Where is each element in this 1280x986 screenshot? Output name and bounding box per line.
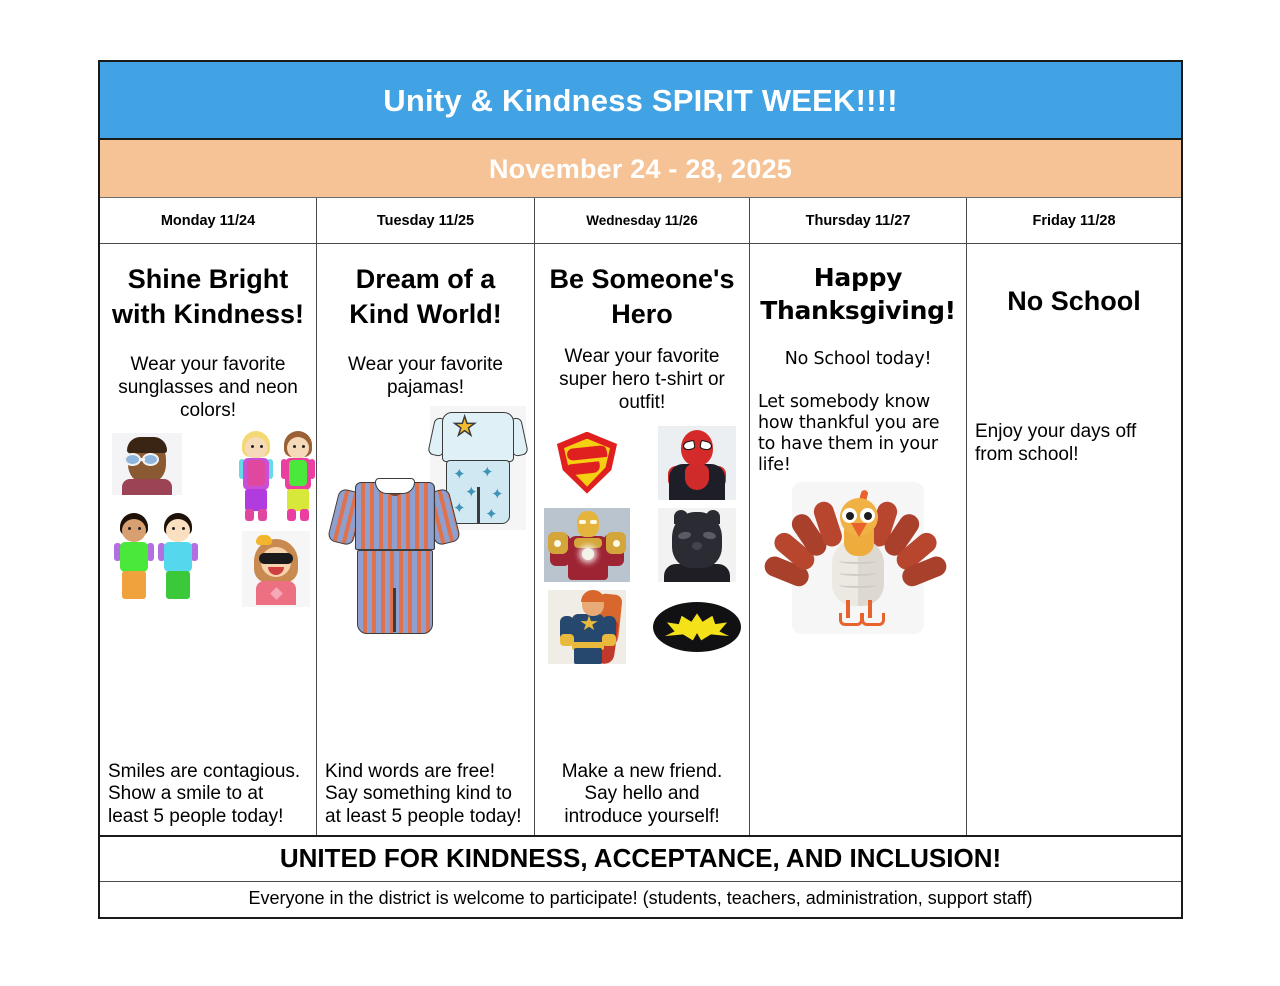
spiderman-photo: [649, 426, 745, 500]
day-cell-tuesday: Dream of a Kind World! Wear your favorit…: [317, 244, 535, 835]
wednesday-subtitle: Wear your favorite super hero t-shirt or…: [543, 346, 741, 414]
thursday-artwork: [758, 482, 958, 634]
captain-marvel-photo: [539, 590, 635, 664]
superman-logo-icon: [539, 426, 635, 500]
day-cell-friday: No School Enjoy your days off from schoo…: [967, 244, 1181, 835]
day-cell-monday: Shine Bright with Kindness! Wear your fa…: [100, 244, 317, 835]
poster-participation-note: Everyone in the district is welcome to p…: [100, 881, 1181, 917]
two-girls-neon-clothes-clipart: [234, 429, 322, 523]
thursday-title: Happy Thanksgiving!: [758, 262, 958, 327]
black-panther-photo: [649, 508, 745, 582]
thursday-subtitle: No School today!: [758, 349, 958, 370]
boy-with-sunglasses-clipart: [112, 433, 182, 495]
poster-date-range: November 24 - 28, 2025: [100, 140, 1181, 198]
monday-footer-text: Smiles are contagious. Show a smile to a…: [108, 761, 308, 829]
monday-subtitle: Wear your favorite sunglasses and neon c…: [108, 354, 308, 422]
tuesday-subtitle: Wear your favorite pajamas!: [325, 354, 526, 400]
monday-artwork: [108, 433, 308, 613]
day-header-monday: Monday 11/24: [100, 198, 317, 243]
iron-man-photo: [539, 508, 635, 582]
turkey-emoji-icon: [792, 482, 924, 634]
tuesday-artwork: ✦ ✦ ✦ ✦ ✦ ✦: [325, 406, 526, 646]
thursday-footer-text: Let somebody know how thankful you are t…: [758, 392, 958, 476]
day-cell-wednesday: Be Someone's Hero Wear your favorite sup…: [535, 244, 750, 835]
tuesday-title: Dream of a Kind World!: [325, 262, 526, 332]
striped-pajamas-clipart: [331, 476, 457, 640]
poster-title: Unity & Kindness SPIRIT WEEK!!!!: [100, 62, 1181, 140]
two-kids-holding-hands-clipart: [112, 511, 204, 603]
wednesday-artwork: [543, 425, 741, 665]
day-header-wednesday: Wednesday 11/26: [535, 198, 750, 243]
day-header-tuesday: Tuesday 11/25: [317, 198, 535, 243]
spirit-week-poster: Unity & Kindness SPIRIT WEEK!!!! Novembe…: [98, 60, 1183, 919]
day-header-row: Monday 11/24 Tuesday 11/25 Wednesday 11/…: [100, 198, 1181, 244]
monday-title: Shine Bright with Kindness!: [108, 262, 308, 332]
day-content-row: Shine Bright with Kindness! Wear your fa…: [100, 244, 1181, 835]
wednesday-title: Be Someone's Hero: [543, 262, 741, 332]
friday-footer-text: Enjoy your days off from school!: [975, 421, 1173, 467]
tuesday-footer-text: Kind words are free! Say something kind …: [325, 761, 526, 829]
friday-title: No School: [975, 284, 1173, 319]
girl-with-sunglasses-clipart: [242, 531, 310, 607]
day-header-thursday: Thursday 11/27: [750, 198, 967, 243]
poster-slogan: UNITED FOR KINDNESS, ACCEPTANCE, AND INC…: [100, 835, 1181, 881]
day-header-friday: Friday 11/28: [967, 198, 1181, 243]
batman-logo-icon: [649, 590, 745, 664]
poster-page: Unity & Kindness SPIRIT WEEK!!!! Novembe…: [0, 0, 1280, 986]
wednesday-footer-text: Make a new friend. Say hello and introdu…: [543, 761, 741, 829]
day-cell-thursday: Happy Thanksgiving! No School today! Let…: [750, 244, 967, 835]
